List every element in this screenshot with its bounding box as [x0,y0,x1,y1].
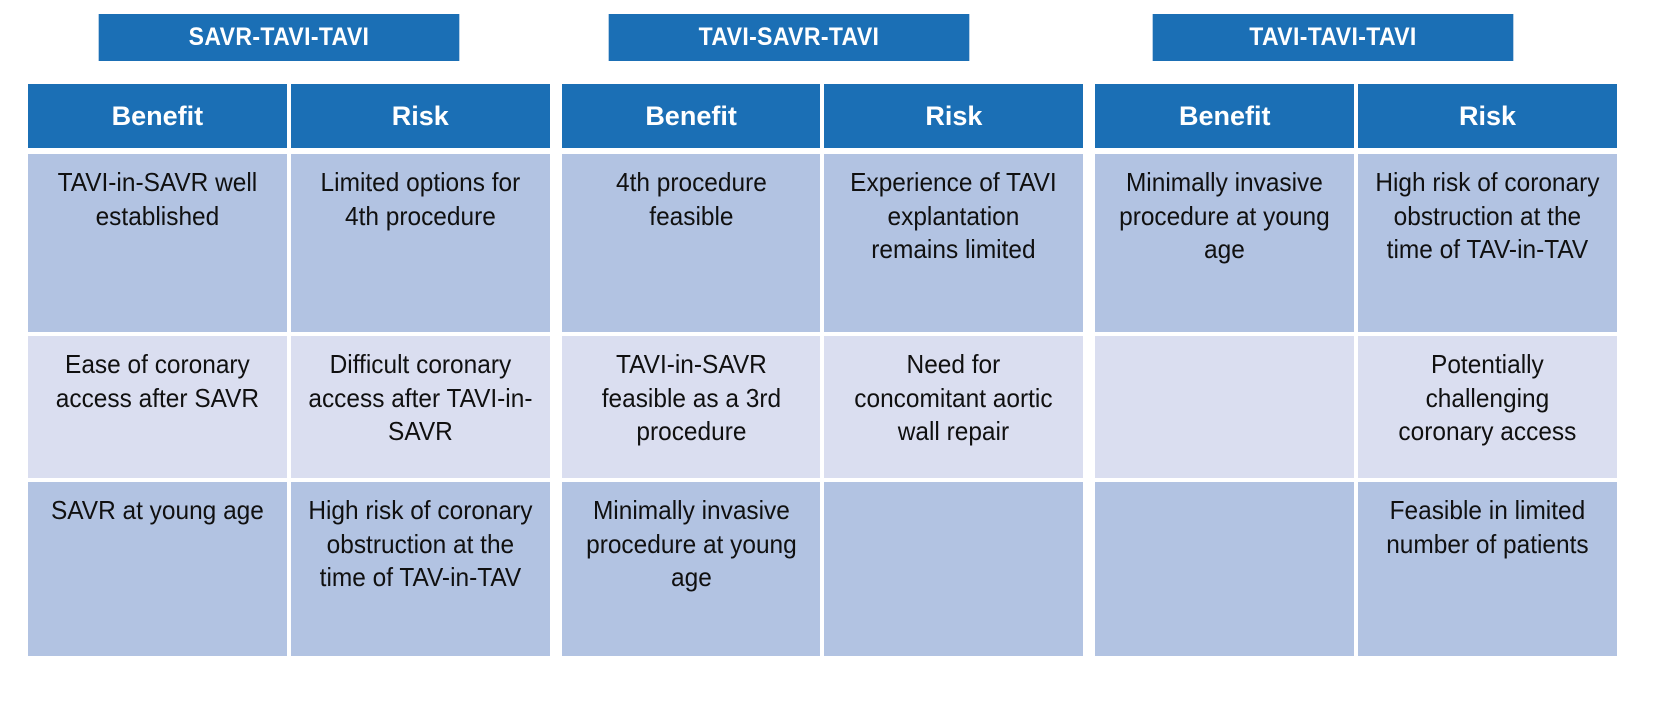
cell-text: Limited options for 4th procedure [308,166,532,233]
cell-text: 4th procedure feasible [579,166,803,233]
table-cell: Potentially challenging coronary access [1358,336,1617,478]
cell-text: Minimally invasive procedure at young ag… [1112,166,1336,267]
table-cell-empty [1095,482,1354,656]
group-banner-container-3: TAVI-TAVI-TAVI [1048,14,1617,61]
column-header-benefit-3: Benefit [1095,84,1354,148]
table-cell: Difficult coronary access after TAVI-in-… [291,336,550,478]
table-cell: TAVI-in-SAVR feasible as a 3rd procedure [562,336,821,478]
table-row: TAVI-in-SAVR well established Limited op… [28,154,1617,332]
group-banner-label: TAVI-SAVR-TAVI [699,23,880,52]
table-cell-empty [1095,336,1354,478]
cell-text: Potentially challenging coronary access [1375,348,1599,449]
table-cell: Limited options for 4th procedure [291,154,550,332]
column-header-label: Benefit [1179,99,1271,134]
banner-gutter-2 [1040,14,1048,61]
table-row: SAVR at young age High risk of coronary … [28,482,1617,656]
cell-text: Ease of coronary access after SAVR [45,348,269,415]
cell-text: TAVI-in-SAVR well established [45,166,269,233]
cell-text: Experience of TAVI explantation remains … [842,166,1066,267]
comparison-table: Benefit Risk Benefit Risk Benefit Risk [28,84,1617,656]
table-cell: TAVI-in-SAVR well established [28,154,287,332]
column-header-risk-2: Risk [824,84,1083,148]
table-cell: Experience of TAVI explantation remains … [824,154,1083,332]
banner-gutter-1 [530,14,538,61]
column-header-risk-3: Risk [1358,84,1617,148]
column-group-gutter-2 [1087,154,1095,332]
table-cell: 4th procedure feasible [562,154,821,332]
table-cell: Minimally invasive procedure at young ag… [562,482,821,656]
group-banner-label: TAVI-TAVI-TAVI [1249,23,1416,52]
table-cell: High risk of coronary obstruction at the… [1358,154,1617,332]
cell-text: SAVR at young age [45,494,269,528]
table-cell: High risk of coronary obstruction at the… [291,482,550,656]
table-cell: Need for concomitant aortic wall repair [824,336,1083,478]
cell-text: High risk of coronary obstruction at the… [308,494,532,595]
column-header-benefit-1: Benefit [28,84,287,148]
table-cell-empty [824,482,1083,656]
cell-text: High risk of coronary obstruction at the… [1375,166,1599,267]
column-group-gutter-1 [554,84,562,148]
column-header-risk-1: Risk [291,84,550,148]
cell-text: Need for concomitant aortic wall repair [842,348,1066,449]
column-header-label: Benefit [645,99,737,134]
column-group-gutter-2 [1087,482,1095,656]
column-header-benefit-2: Benefit [562,84,821,148]
group-banner-savr-tavi-tavi: SAVR-TAVI-TAVI [99,14,460,61]
column-header-label: Benefit [112,99,204,134]
column-group-gutter-2 [1087,84,1095,148]
cell-text: Feasible in limited number of patients [1375,494,1599,561]
group-banner-tavi-tavi-tavi: TAVI-TAVI-TAVI [1152,14,1513,61]
group-banner-container-2: TAVI-SAVR-TAVI [538,14,1040,61]
column-group-gutter-2 [1087,336,1095,478]
column-header-label: Risk [1459,99,1516,134]
table-cell: SAVR at young age [28,482,287,656]
cell-text: TAVI-in-SAVR feasible as a 3rd procedure [579,348,803,449]
column-group-gutter-1 [554,336,562,478]
column-header-label: Risk [392,99,449,134]
cell-text: Minimally invasive procedure at young ag… [579,494,803,595]
group-banner-label: SAVR-TAVI-TAVI [189,23,370,52]
column-header-label: Risk [925,99,982,134]
table-cell: Feasible in limited number of patients [1358,482,1617,656]
group-banner-tavi-savr-tavi: TAVI-SAVR-TAVI [609,14,970,61]
table-header-row: Benefit Risk Benefit Risk Benefit Risk [28,84,1617,148]
cell-text: Difficult coronary access after TAVI-in-… [308,348,532,449]
comparison-table-page: SAVR-TAVI-TAVI TAVI-SAVR-TAVI TAVI-TAVI-… [0,0,1654,712]
group-banner-row: SAVR-TAVI-TAVI TAVI-SAVR-TAVI TAVI-TAVI-… [28,14,1617,61]
table-row: Ease of coronary access after SAVR Diffi… [28,336,1617,478]
table-cell: Ease of coronary access after SAVR [28,336,287,478]
group-banner-container-1: SAVR-TAVI-TAVI [28,14,530,61]
column-group-gutter-1 [554,482,562,656]
column-group-gutter-1 [554,154,562,332]
table-cell: Minimally invasive procedure at young ag… [1095,154,1354,332]
